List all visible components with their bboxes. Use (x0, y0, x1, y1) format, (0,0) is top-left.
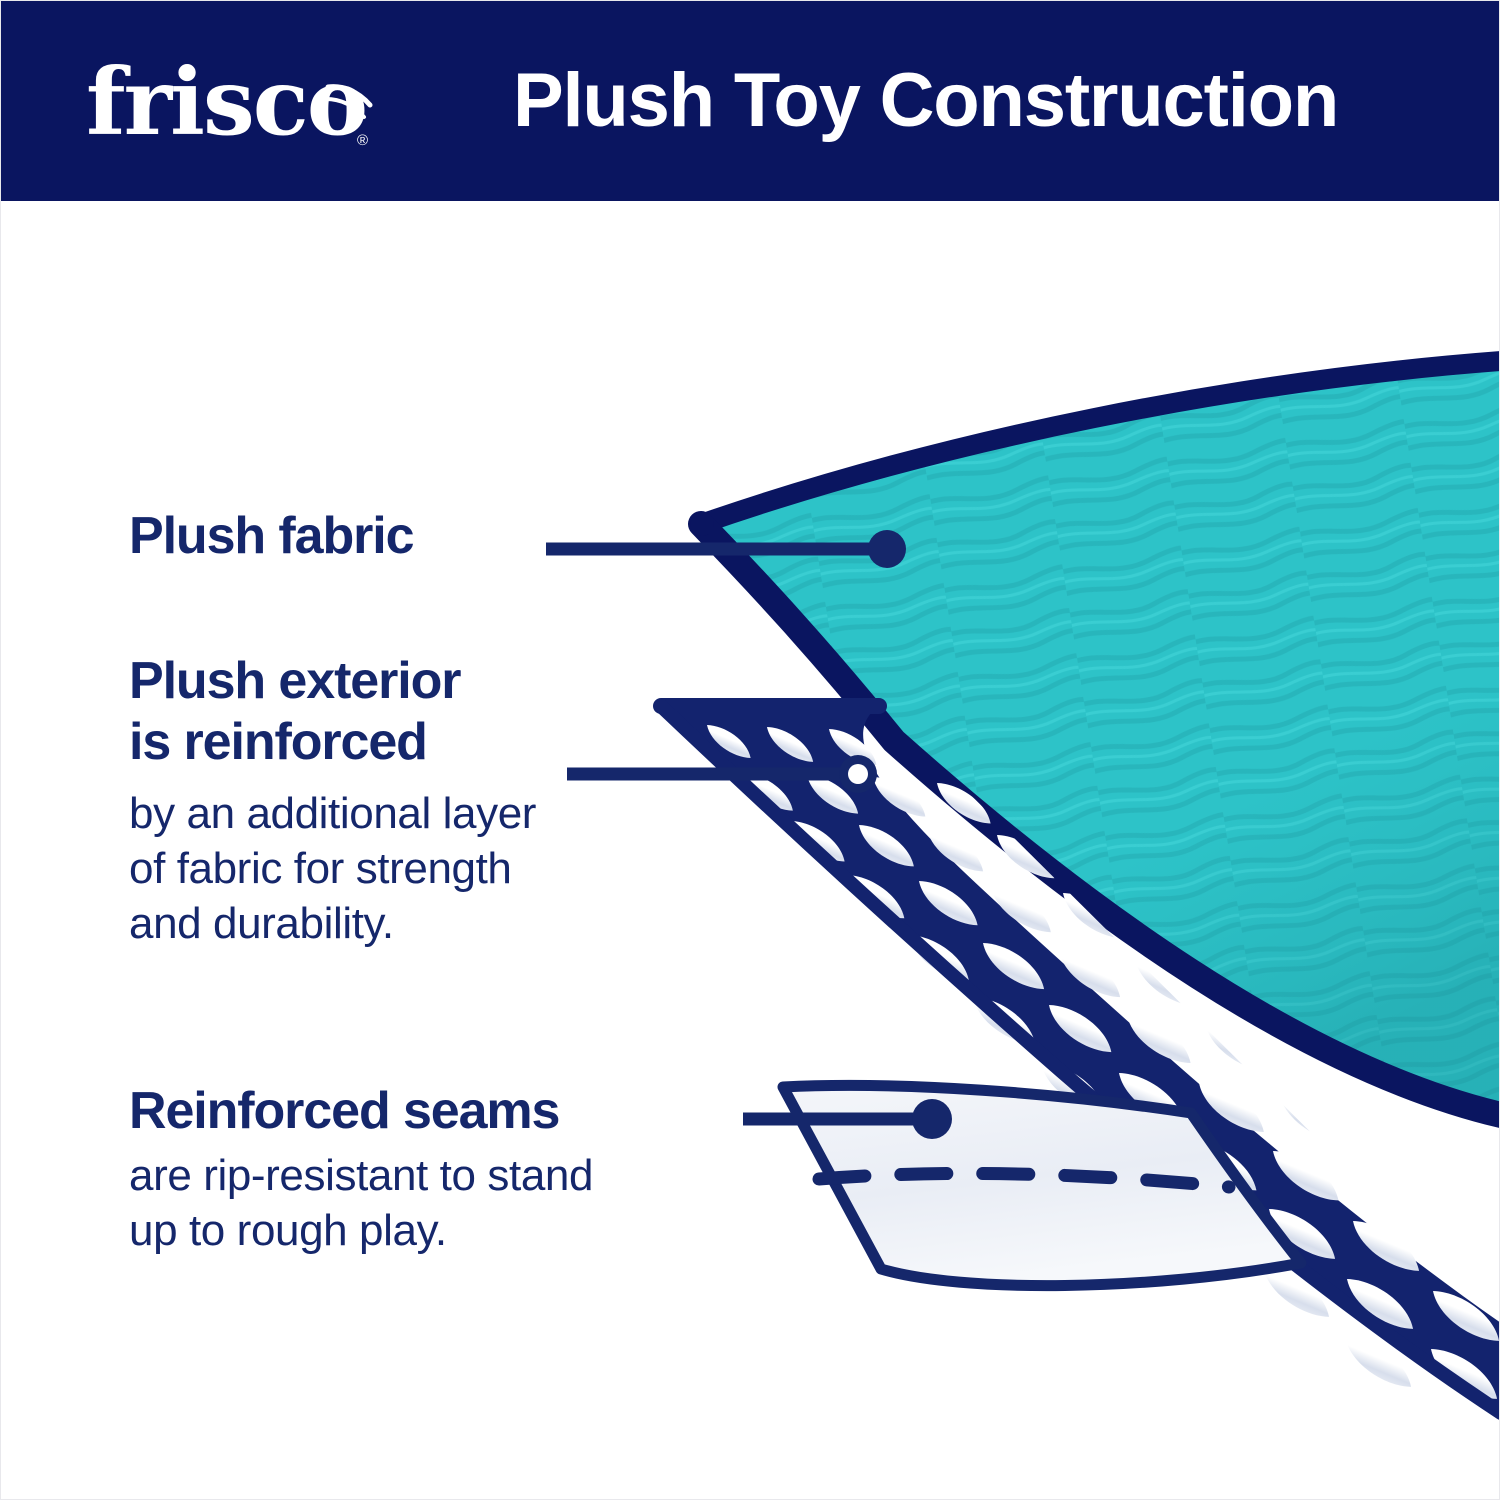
frisco-logo-swoosh-icon (324, 83, 376, 127)
leader-dot-reinforced-seams (912, 1099, 952, 1139)
header-bar: frisco ® Plush Toy Construction (1, 1, 1500, 201)
infographic-page: frisco ® Plush Toy Construction Plush fa… (0, 0, 1500, 1500)
plush-toy-cutaway-illustration (1, 201, 1500, 1500)
page-title: Plush Toy Construction (513, 45, 1453, 157)
registered-trademark-icon: ® (357, 133, 368, 148)
frisco-logo: frisco ® (86, 47, 386, 157)
leader-dot-plush-fabric (868, 530, 906, 568)
